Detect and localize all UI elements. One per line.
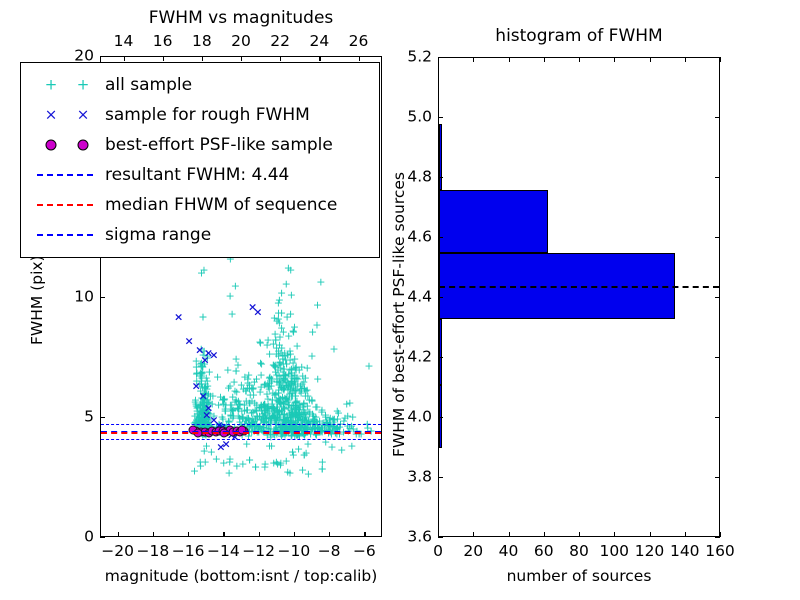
scatter-point-all-sample: + (231, 366, 240, 377)
scatter-point-all-sample: + (291, 391, 300, 402)
scatter-point-rough-fwhm: × (185, 335, 194, 346)
right-top-tickmark (473, 57, 474, 62)
right-bottom-tickmark (509, 532, 510, 537)
right-right-tickmark (715, 177, 720, 178)
scatter-point-all-sample: + (244, 369, 253, 380)
dashed-line-icon (37, 204, 93, 206)
legend-label: resultant FWHM: 4.44 (105, 167, 289, 184)
right-left-tickmark (438, 57, 443, 58)
right-right-tickmark (715, 477, 720, 478)
scatter-point-all-sample: + (197, 267, 206, 278)
scatter-point-all-sample: + (282, 312, 291, 323)
top-tickmark (241, 56, 242, 61)
scatter-point-all-sample: + (196, 461, 205, 472)
hline-resultant-fwhm (439, 286, 719, 288)
right-left-tickmark (438, 417, 443, 418)
right-y-tick-label: 5.0 (384, 109, 432, 125)
left-tickmark (100, 56, 105, 57)
right-top-tickmark (685, 57, 686, 62)
scatter-point-all-sample: + (316, 277, 325, 288)
scatter-point-all-sample: + (278, 353, 287, 364)
right-bottom-tickmark (544, 532, 545, 537)
scatter-point-rough-fwhm: × (209, 350, 218, 361)
scatter-point-all-sample: + (225, 381, 234, 392)
right-left-tickmark (438, 357, 443, 358)
left-tickmark (100, 417, 105, 418)
legend-label: median FHWM of sequence (105, 197, 337, 214)
right-x-tick-label: 60 (534, 544, 554, 560)
right-bottom-tickmark (650, 532, 651, 537)
dashed-line-icon (37, 174, 93, 176)
right-right-tickmark (715, 357, 720, 358)
right-x-tick-label: 40 (499, 544, 519, 560)
scatter-point-all-sample: + (227, 309, 236, 320)
right-right-tickmark (715, 297, 720, 298)
legend-label: all sample (105, 77, 192, 94)
scatter-point-all-sample: + (267, 374, 276, 385)
scatter-point-all-sample: + (283, 376, 292, 387)
bottom-tickmark (188, 532, 189, 537)
bottom-tick-label: −6 (353, 544, 376, 560)
right-top-tickmark (614, 57, 615, 62)
scatter-point-all-sample: + (271, 334, 280, 345)
histogram-bar (439, 190, 548, 253)
scatter-point-all-sample: + (245, 454, 254, 465)
right-left-tickmark (438, 537, 443, 538)
left-tick-label: 5 (52, 409, 94, 425)
right-ylabel: FWHM of best-effort PSF-like sources (392, 172, 408, 457)
right-right-tickmark (715, 237, 720, 238)
legend-item[interactable]: sigma range (27, 220, 371, 250)
legend-box: ++all sample××sample for rough FWHMbest-… (20, 62, 380, 258)
scatter-point-all-sample: + (242, 404, 251, 415)
right-panel-title: histogram of FWHM (495, 28, 662, 45)
scatter-point-all-sample: + (257, 399, 266, 410)
bottom-tick-label: −16 (172, 544, 205, 560)
scatter-point-all-sample: + (288, 407, 297, 418)
top-tick-label: 20 (231, 34, 251, 50)
top-tick-label: 14 (114, 34, 134, 50)
top-tick-label: 22 (270, 34, 290, 50)
bottom-tick-label: −10 (278, 544, 311, 560)
right-x-tick-label: 120 (635, 544, 665, 560)
scatter-point-all-sample: + (329, 344, 338, 355)
left-xlabel: magnitude (bottom:isnt / top:calib) (105, 569, 378, 585)
right-top-tickmark (509, 57, 510, 62)
figure-canvas: ++++++++++++++++++++++++++++++++++++++++… (0, 0, 800, 600)
legend-handle: ++ (27, 70, 105, 100)
scatter-point-all-sample: + (245, 380, 254, 391)
right-right-tickmark (715, 537, 720, 538)
scatter-point-all-sample: + (307, 394, 316, 405)
legend-item[interactable]: ++all sample (27, 70, 371, 100)
scatter-point-all-sample: + (288, 446, 297, 457)
scatter-point-all-sample: + (213, 371, 222, 382)
scatter-point-all-sample: + (284, 330, 293, 341)
legend-item[interactable]: resultant FWHM: 4.44 (27, 160, 371, 190)
right-axes (438, 57, 720, 537)
legend-handle (27, 220, 105, 250)
scatter-point-all-sample: + (309, 416, 318, 427)
bottom-tickmark (329, 532, 330, 537)
legend-handle (27, 190, 105, 220)
top-tick-label: 24 (309, 34, 329, 50)
left-tickmark (100, 537, 105, 538)
scatter-point-all-sample: + (277, 287, 286, 298)
scatter-point-all-sample: + (342, 398, 351, 409)
circle-icon (78, 140, 89, 151)
scatter-point-all-sample: + (308, 327, 317, 338)
bottom-tickmark (259, 532, 260, 537)
scatter-point-all-sample: + (292, 341, 301, 352)
cross-icon: × (77, 108, 90, 123)
right-bottom-tickmark (579, 532, 580, 537)
legend-label: sigma range (105, 227, 211, 244)
scatter-point-all-sample: + (291, 374, 300, 385)
left-ylabel: FWHM (pix) (30, 255, 46, 345)
bottom-tickmark (118, 532, 119, 537)
right-x-tick-label: 160 (705, 544, 735, 560)
top-tickmark (280, 56, 281, 61)
scatter-point-all-sample: + (337, 444, 346, 455)
cross-icon: × (45, 108, 58, 123)
legend-item[interactable]: ××sample for rough FWHM (27, 100, 371, 130)
scatter-point-all-sample: + (347, 441, 356, 452)
scatter-point-rough-fwhm: × (199, 391, 208, 402)
bottom-tick-label: −14 (207, 544, 240, 560)
scatter-point-all-sample: + (318, 463, 327, 474)
hline-sigma-lower (101, 439, 381, 440)
legend-handle (27, 130, 105, 160)
right-x-tick-label: 100 (599, 544, 629, 560)
scatter-point-all-sample: + (274, 313, 283, 324)
right-left-tickmark (438, 297, 443, 298)
top-tick-label: 18 (192, 34, 212, 50)
scatter-point-all-sample: + (364, 360, 373, 371)
scatter-point-all-sample: + (219, 457, 228, 468)
top-tickmark (124, 56, 125, 61)
scatter-point-all-sample: + (307, 351, 316, 362)
plus-icon: + (77, 78, 90, 93)
left-tickmark (100, 297, 105, 298)
hline-sigma-upper (101, 424, 381, 425)
top-tickmark (202, 56, 203, 61)
hline-median-fhwm-of-sequence (101, 432, 381, 434)
scatter-point-all-sample: + (256, 357, 265, 368)
scatter-point-all-sample: + (327, 441, 336, 452)
right-x-tick-label: 140 (670, 544, 700, 560)
right-bottom-tickmark (720, 532, 721, 537)
right-y-tick-label: 3.8 (384, 469, 432, 485)
scatter-point-all-sample: + (284, 262, 293, 273)
scatter-point-all-sample: + (269, 359, 278, 370)
right-bottom-tickmark (473, 532, 474, 537)
scatter-point-all-sample: + (228, 406, 237, 417)
bottom-tick-label: −12 (242, 544, 275, 560)
legend-handle: ×× (27, 100, 105, 130)
circle-icon (46, 140, 57, 151)
scatter-point-all-sample: + (198, 311, 207, 322)
left-tick-label: 0 (52, 529, 94, 545)
plus-icon: + (45, 78, 58, 93)
dashdot-line-icon (37, 234, 93, 236)
scatter-point-rough-fwhm: × (174, 311, 183, 322)
right-right-tickmark (715, 417, 720, 418)
scatter-point-all-sample: + (251, 414, 260, 425)
right-left-tickmark (438, 237, 443, 238)
right-right-tickmark (715, 117, 720, 118)
right-x-tick-label: 80 (569, 544, 589, 560)
right-right-tickmark (715, 57, 720, 58)
top-tick-label: 26 (349, 34, 369, 50)
histogram-bar (439, 124, 442, 190)
scatter-point-all-sample: + (260, 462, 269, 473)
top-tickmark (163, 56, 164, 61)
bottom-tick-label: −8 (318, 544, 341, 560)
right-bottom-tickmark (685, 532, 686, 537)
bottom-tick-label: −20 (101, 544, 134, 560)
top-tick-label: 16 (153, 34, 173, 50)
right-left-tickmark (438, 117, 443, 118)
bottom-tickmark (294, 532, 295, 537)
right-top-tickmark (650, 57, 651, 62)
left-tick-label: 10 (52, 289, 94, 305)
scatter-point-all-sample: + (292, 362, 301, 373)
histogram-bar (439, 319, 442, 385)
legend-label: best-effort PSF-like sample (105, 137, 333, 154)
scatter-point-all-sample: + (273, 458, 282, 469)
scatter-point-rough-fwhm: × (216, 441, 225, 452)
bottom-tickmark (364, 532, 365, 537)
top-tickmark (359, 56, 360, 61)
bottom-tick-label: −18 (137, 544, 170, 560)
right-top-tickmark (720, 57, 721, 62)
right-left-tickmark (438, 177, 443, 178)
right-x-tick-label: 0 (433, 544, 443, 560)
scatter-point-all-sample: + (278, 396, 287, 407)
scatter-point-all-sample: + (226, 290, 235, 301)
right-xlabel: number of sources (507, 569, 652, 585)
bottom-tickmark (153, 532, 154, 537)
right-y-tick-label: 5.2 (384, 49, 432, 65)
scatter-point-rough-fwhm: × (253, 306, 262, 317)
right-x-tick-label: 20 (463, 544, 483, 560)
scatter-point-all-sample: + (298, 464, 307, 475)
left-panel-title: FWHM vs magnitudes (149, 10, 334, 27)
legend-label: sample for rough FWHM (105, 107, 310, 124)
right-y-tick-label: 3.6 (384, 529, 432, 545)
right-bottom-tickmark (614, 532, 615, 537)
right-left-tickmark (438, 477, 443, 478)
scatter-point-all-sample: + (300, 450, 309, 461)
scatter-point-all-sample: + (287, 290, 296, 301)
scatter-point-all-sample: + (219, 394, 228, 405)
scatter-point-all-sample: + (232, 460, 241, 471)
scatter-point-all-sample: + (313, 373, 322, 384)
right-top-tickmark (579, 57, 580, 62)
legend-item[interactable]: best-effort PSF-like sample (27, 130, 371, 160)
scatter-point-all-sample: + (313, 300, 322, 311)
bottom-tickmark (223, 532, 224, 537)
top-tickmark (319, 56, 320, 61)
legend-handle (27, 160, 105, 190)
legend-item[interactable]: median FHWM of sequence (27, 190, 371, 220)
right-top-tickmark (544, 57, 545, 62)
